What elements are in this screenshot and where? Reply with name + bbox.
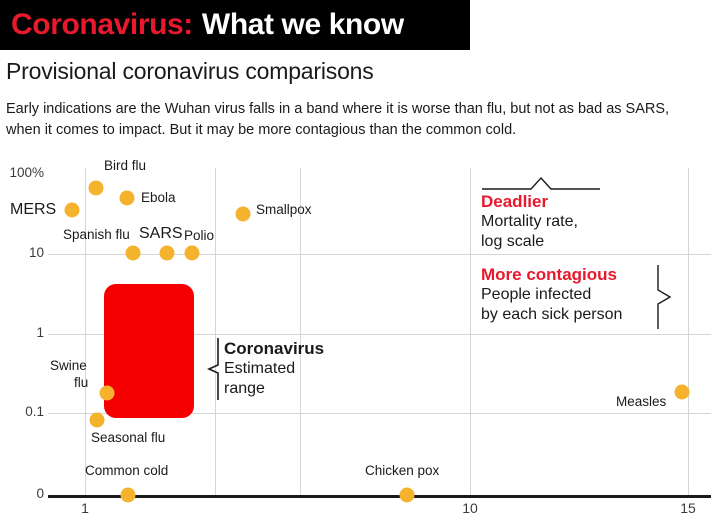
data-point-dot — [236, 207, 251, 222]
y-axis-tick-label: 10 — [29, 245, 44, 260]
data-point-dot — [121, 488, 136, 503]
data-point-label: Seasonal flu — [91, 430, 165, 445]
up-arrow-bracket-icon — [481, 176, 601, 192]
y-axis-tick-label: 0.1 — [25, 404, 44, 419]
coronavirus-range-box — [104, 284, 194, 418]
standfirst-text: Early indications are the Wuhan virus fa… — [6, 99, 706, 141]
title-main: What we know — [202, 8, 404, 42]
gridline-vertical — [688, 168, 689, 495]
title-kicker: Coronavirus: — [11, 8, 193, 42]
contagious-annotation-line2: by each sick person — [481, 305, 622, 325]
x-axis-line — [48, 495, 711, 498]
x-axis-tick-label: 1 — [81, 500, 89, 516]
coronavirus-annotation-line1: Estimated — [224, 359, 324, 379]
data-point-dot — [185, 246, 200, 261]
data-point-dot — [160, 246, 175, 261]
deadlier-annotation-head: Deadlier — [481, 191, 578, 212]
chart-plot-area: 100%1010.1011015 MERSBird fluEbolaSmallp… — [0, 160, 711, 516]
data-point-label: Ebola — [141, 190, 176, 205]
data-point-dot — [126, 246, 141, 261]
deadlier-annotation: Deadlier Mortality rate, log scale — [481, 191, 578, 252]
data-point-dot — [100, 386, 115, 401]
deadlier-annotation-line2: log scale — [481, 232, 578, 252]
gridline-vertical — [470, 168, 471, 495]
coronavirus-annotation-line2: range — [224, 379, 324, 399]
data-point-dot — [120, 191, 135, 206]
data-point-dot — [65, 203, 80, 218]
contagious-annotation-line1: People infected — [481, 285, 622, 305]
page-title: Provisional coronavirus comparisons — [6, 58, 374, 85]
gridline-horizontal — [48, 254, 711, 255]
infographic-page: Coronavirus: What we know Provisional co… — [0, 0, 711, 516]
data-point-label: Spanish flu — [63, 227, 130, 242]
right-arrow-bracket-icon — [655, 264, 673, 330]
x-axis-tick-label: 15 — [680, 500, 696, 516]
data-point-label: Chicken pox — [365, 463, 439, 478]
data-point-label: Common cold — [85, 463, 168, 478]
title-bar: Coronavirus: What we know — [0, 0, 470, 50]
data-point-label: Polio — [184, 228, 214, 243]
data-point-dot — [90, 413, 105, 428]
y-axis-tick-label: 100% — [9, 165, 44, 180]
data-point-label: MERS — [10, 201, 56, 219]
data-point-label: Swine — [50, 358, 87, 373]
data-point-label: SARS — [139, 225, 183, 243]
coronavirus-annotation-title: Coronavirus — [224, 338, 324, 359]
data-point-dot — [675, 385, 690, 400]
data-point-dot — [89, 181, 104, 196]
data-point-label: Measles — [616, 394, 666, 409]
data-point-label: Smallpox — [256, 202, 312, 217]
coronavirus-annotation: Coronavirus Estimated range — [224, 338, 324, 399]
data-point-label: Bird flu — [104, 158, 146, 173]
contagious-annotation: More contagious People infected by each … — [481, 264, 622, 325]
gridline-vertical — [215, 168, 216, 495]
data-point-dot — [400, 488, 415, 503]
data-point-label: flu — [74, 375, 88, 390]
gridline-vertical — [300, 168, 301, 495]
contagious-annotation-head: More contagious — [481, 264, 622, 285]
deadlier-annotation-line1: Mortality rate, — [481, 212, 578, 232]
x-axis-tick-label: 10 — [462, 500, 478, 516]
y-axis-tick-label: 1 — [36, 325, 44, 340]
coronavirus-bracket-icon — [205, 337, 221, 401]
y-axis-tick-label: 0 — [36, 486, 44, 501]
gridline-vertical — [85, 168, 86, 495]
